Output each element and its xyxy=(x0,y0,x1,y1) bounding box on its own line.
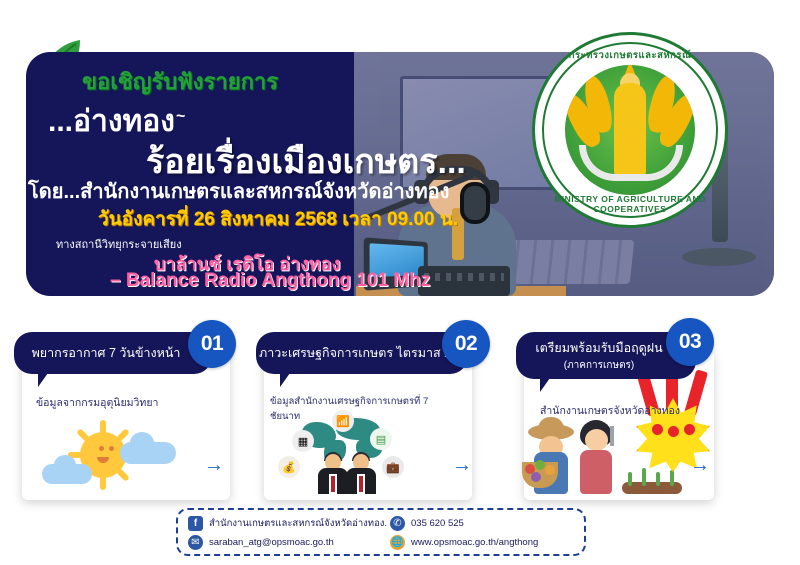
seal-text-thai: กระทรวงเกษตรและสหกรณ์ xyxy=(535,48,725,63)
website-label: www.opsmoac.go.th/angthong xyxy=(411,537,538,548)
card-source-label: ข้อมูลสำนักงานเศรษฐกิจการเกษตรที่ 7 ชัยน… xyxy=(270,394,460,424)
briefcase-icon: 💼 xyxy=(382,456,404,478)
card-number-badge: 03 xyxy=(666,318,714,366)
card-number-badge: 02 xyxy=(442,320,490,368)
contact-footer: f สำนักงานเกษตรและสหกรณ์จังหวัดอ่างทอง. … xyxy=(176,508,586,556)
facebook-label: สำนักงานเกษตรและสหกรณ์จังหวัดอ่างทอง. xyxy=(209,516,387,531)
facebook-contact-row[interactable]: f สำนักงานเกษตรและสหกรณ์จังหวัดอ่างทอง. xyxy=(188,516,387,531)
card-title: ภาวะเศรษฐกิจการเกษตร ไตรมาส 2 xyxy=(259,343,451,363)
seal-inner-disc xyxy=(565,65,695,195)
website-contact-row[interactable]: 🌐 www.opsmoac.go.th/angthong xyxy=(390,535,538,550)
calculator-icon: ▦ xyxy=(292,430,314,452)
card-source-label: ข้อมูลจากกรมอุตุนิยมวิทยา xyxy=(36,394,226,411)
phone-icon: ✆ xyxy=(390,516,405,531)
organizer-line: โดย...สำนักงานเกษตรและสหกรณ์จังหวัดอ่างท… xyxy=(28,175,449,207)
invite-headline: ขอเชิญรับฟังรายการ xyxy=(82,64,278,99)
topic-card-02[interactable]: ภาวะเศรษฐกิจการเกษตร ไตรมาส 2 02 ข้อมูลส… xyxy=(256,332,472,500)
globe-icon: 🌐 xyxy=(390,535,405,550)
card-title-bubble: พยากรอากาศ 7 วันข้างหน้า xyxy=(14,332,212,374)
money-bag-icon: 💰 xyxy=(278,456,300,478)
card-arrow: → xyxy=(690,454,710,477)
topic-card-03[interactable]: เตรียมพร้อมรับมือฤดูฝน (ภาคการเกษตร) 03 … xyxy=(516,332,756,500)
email-contact-row[interactable]: ✉ saraban_atg@opsmoac.go.th xyxy=(188,535,334,550)
card-title: พยากรอากาศ 7 วันข้างหน้า xyxy=(32,343,181,363)
poster-canvas: ขอเชิญรับฟังรายการ ...อ่างทอง ~ ร้อยเรื่… xyxy=(0,0,800,565)
phone-contact-row[interactable]: ✆ 035 620 525 xyxy=(390,516,464,531)
card-number-badge: 01 xyxy=(188,320,236,368)
facebook-icon: f xyxy=(188,516,203,531)
money-note-icon: ▤ xyxy=(370,428,392,450)
email-icon: ✉ xyxy=(188,535,203,550)
province-headline-mark: ~ xyxy=(176,108,185,126)
card-source-label: สำนักงานเกษตรจังหวัดอ่างทอง xyxy=(540,402,730,419)
ministry-emblem-icon: กระทรวงเกษตรและสหกรณ์ MINISTRY OF AGRICU… xyxy=(532,32,728,228)
card-arrow: → xyxy=(452,454,472,477)
topic-card-01[interactable]: พยากรอากาศ 7 วันข้างหน้า 01 ข้อมูลจากกรม… xyxy=(14,332,230,500)
sun-clouds-icon xyxy=(36,416,196,494)
phone-label: 035 620 525 xyxy=(411,518,464,529)
card-title-secondary: (ภาคการเกษตร) xyxy=(564,358,635,373)
card-title-bubble: ภาวะเศรษฐกิจการเกษตร ไตรมาส 2 xyxy=(256,332,468,374)
datetime-line: วันอังคารที่ 26 สิงหาคม 2568 เวลา 09.00 … xyxy=(98,204,458,234)
card-arrow: → xyxy=(204,454,224,477)
world-map-business-icon: ▦ 📶 ▤ 💰 💼 xyxy=(278,416,438,494)
studio-microphone-base xyxy=(682,248,756,266)
seal-text-english: MINISTRY OF AGRICULTURE AND COOPERATIVES xyxy=(535,194,725,214)
station-name-english: – Balance Radio Angthong 101 Mhz xyxy=(110,270,430,292)
email-label: saraban_atg@opsmoac.go.th xyxy=(209,537,334,548)
card-title: เตรียมพร้อมรับมือฤดูฝน xyxy=(535,338,662,358)
